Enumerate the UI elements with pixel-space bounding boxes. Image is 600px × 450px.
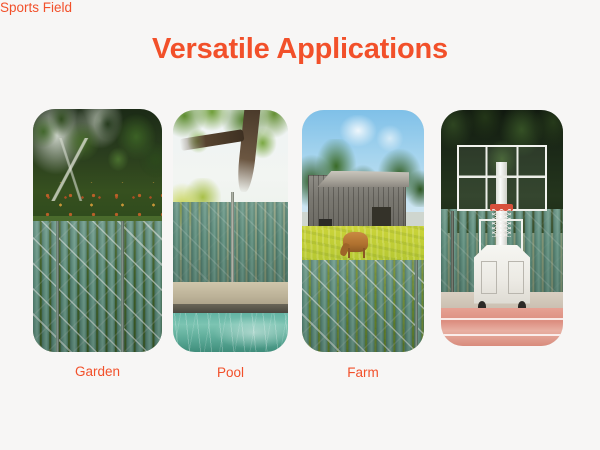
card-caption-garden: Garden [33,364,162,379]
fence-post [56,221,59,352]
fence-post [121,221,124,352]
application-card-farm[interactable] [302,110,424,352]
backboard-frame-grid [459,147,545,209]
fence-shading [302,260,424,352]
card-caption-sports-field: Sports Field [0,0,72,15]
farm-cow-leg [363,248,365,258]
garden-scene-image [33,109,162,352]
garden-slatted-fence [33,221,162,352]
pool-water-ripples [173,313,288,352]
basketball-net [492,209,510,237]
sports-court-surface [441,308,563,346]
farm-scene-image [302,110,424,352]
hoop-base-panel [481,261,497,294]
application-card-sports-field[interactable] [441,110,563,346]
pool-scene-image [173,110,288,352]
court-line [441,318,563,320]
application-card-pool[interactable] [173,110,288,352]
application-card-garden[interactable] [33,109,162,352]
applications-gallery: Garden Pool [0,0,600,450]
fence-shading [33,221,162,352]
fence-post [415,260,418,352]
farm-cow-leg [348,248,350,258]
basketball-backboard [457,145,547,211]
hoop-base-panel [508,261,524,294]
card-caption-farm: Farm [302,365,424,380]
sports-field-scene-image [441,110,563,346]
court-line [441,334,563,336]
application-page: Versatile Applications Garden [0,0,600,450]
farm-slatted-fence [302,260,424,352]
card-caption-pool: Pool [173,365,288,380]
